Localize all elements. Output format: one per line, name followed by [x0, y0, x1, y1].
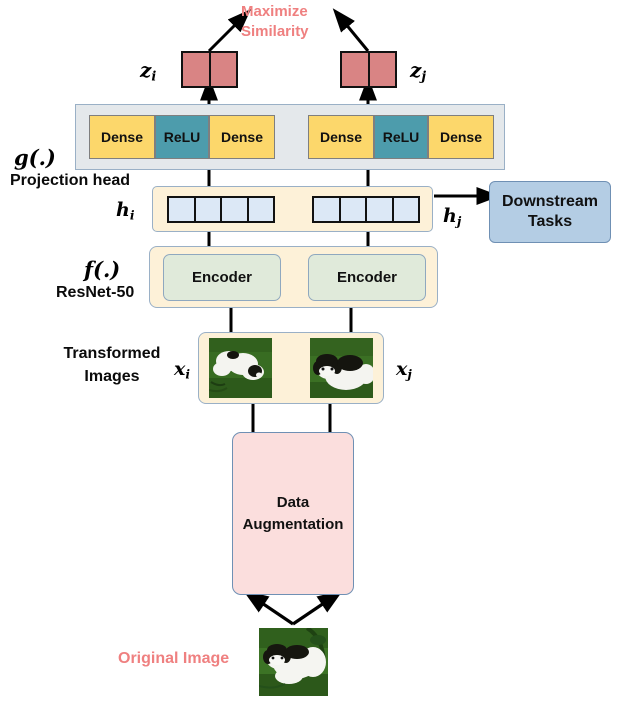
- original-image-text: Original Image: [118, 650, 229, 667]
- proj-left-dense-2[interactable]: Dense: [209, 115, 275, 159]
- g-function-symbol: g(.): [14, 145, 56, 170]
- x-right-symbol: x: [396, 358, 407, 380]
- x-right-subscript: j: [407, 366, 411, 381]
- proj-right-relu-label: ReLU: [383, 129, 420, 145]
- original-image: [259, 628, 328, 696]
- z-vector-left: [181, 51, 238, 88]
- proj-right-relu[interactable]: ReLU: [374, 115, 428, 159]
- z-right-cell-2: [368, 53, 396, 86]
- proj-right-dense-1[interactable]: Dense: [308, 115, 374, 159]
- z-left-cell-1: [183, 53, 209, 86]
- downstream-tasks-line2: Tasks: [502, 212, 598, 232]
- transformed-images-line2: Images: [48, 365, 176, 388]
- z-right-symbol: z: [410, 58, 421, 82]
- z-right-subscript: j: [421, 70, 426, 85]
- encoder-left[interactable]: Encoder: [163, 254, 281, 301]
- resnet-text: ResNet-50: [56, 284, 134, 301]
- original-image-label: Original Image: [118, 650, 229, 668]
- h-right-cell-3: [365, 198, 392, 221]
- projection-head-name-label: Projection head: [10, 172, 130, 190]
- z-left-symbol: z: [140, 58, 151, 82]
- encoder-left-label: Encoder: [192, 269, 252, 286]
- transformed-image-xj: [310, 338, 373, 398]
- z-vector-right: [340, 51, 397, 88]
- aug-to-images-lines: [253, 404, 330, 432]
- x-right-label: xj: [396, 358, 412, 381]
- h-right-label: hj: [443, 205, 461, 228]
- proj-left-dense-1-label: Dense: [101, 129, 143, 145]
- maximize-similarity-label: Maximize Similarity: [241, 2, 351, 41]
- proj-left-relu[interactable]: ReLU: [155, 115, 209, 159]
- encoder-right-label: Encoder: [337, 269, 397, 286]
- original-to-aug-arrows: [253, 597, 333, 624]
- proj-left-dense-2-label: Dense: [221, 129, 263, 145]
- x-left-subscript: i: [185, 366, 190, 381]
- h-right-subscript: j: [457, 213, 461, 228]
- z-right-label: zj: [410, 58, 426, 85]
- transformed-images-label: Transformed Images: [48, 342, 176, 388]
- diagram-canvas: Maximize Similarity zi zj Dense ReLU Den…: [0, 0, 622, 701]
- transformed-images-line1: Transformed: [48, 342, 176, 365]
- data-augmentation-line1: Data: [243, 492, 344, 514]
- transformed-image-xi: [209, 338, 272, 398]
- encoder-function-label: f(.): [84, 257, 120, 282]
- z-right-cell-1: [342, 53, 368, 86]
- h-left-cell-1: [169, 198, 194, 221]
- h-right-cell-4: [392, 198, 419, 221]
- data-augmentation-line2: Augmentation: [243, 514, 344, 536]
- h-left-label: hi: [116, 199, 135, 222]
- h-vector-left: [167, 196, 275, 223]
- h-left-cell-2: [194, 198, 221, 221]
- downstream-tasks-box[interactable]: Downstream Tasks: [489, 181, 611, 243]
- x-left-symbol: x: [174, 358, 185, 380]
- h-left-subscript: i: [130, 207, 135, 222]
- h-left-cell-3: [220, 198, 247, 221]
- h-right-cell-2: [339, 198, 366, 221]
- proj-right-dense-2-label: Dense: [440, 129, 482, 145]
- proj-left-dense-1[interactable]: Dense: [89, 115, 155, 159]
- z-left-label: zi: [140, 58, 156, 85]
- encoder-right[interactable]: Encoder: [308, 254, 426, 301]
- data-augmentation-box[interactable]: Data Augmentation: [232, 432, 354, 595]
- encoder-name-label: ResNet-50: [56, 284, 134, 302]
- proj-right-dense-1-label: Dense: [320, 129, 362, 145]
- z-left-cell-2: [209, 53, 237, 86]
- z-left-subscript: i: [151, 70, 156, 85]
- maximize-similarity-line1: Maximize: [241, 2, 351, 22]
- projection-head-text: Projection head: [10, 172, 130, 189]
- proj-right-dense-2[interactable]: Dense: [428, 115, 494, 159]
- projection-head-function-label: g(.): [14, 145, 56, 170]
- x-left-label: xi: [174, 358, 190, 381]
- f-function-symbol: f(.): [84, 257, 120, 282]
- h-right-symbol: h: [443, 205, 457, 227]
- h-left-cell-4: [247, 198, 274, 221]
- downstream-tasks-line1: Downstream: [502, 192, 598, 212]
- h-vector-right: [312, 196, 420, 223]
- proj-left-relu-label: ReLU: [164, 129, 201, 145]
- maximize-similarity-line2: Similarity: [241, 22, 351, 42]
- h-right-cell-1: [314, 198, 339, 221]
- h-left-symbol: h: [116, 199, 130, 221]
